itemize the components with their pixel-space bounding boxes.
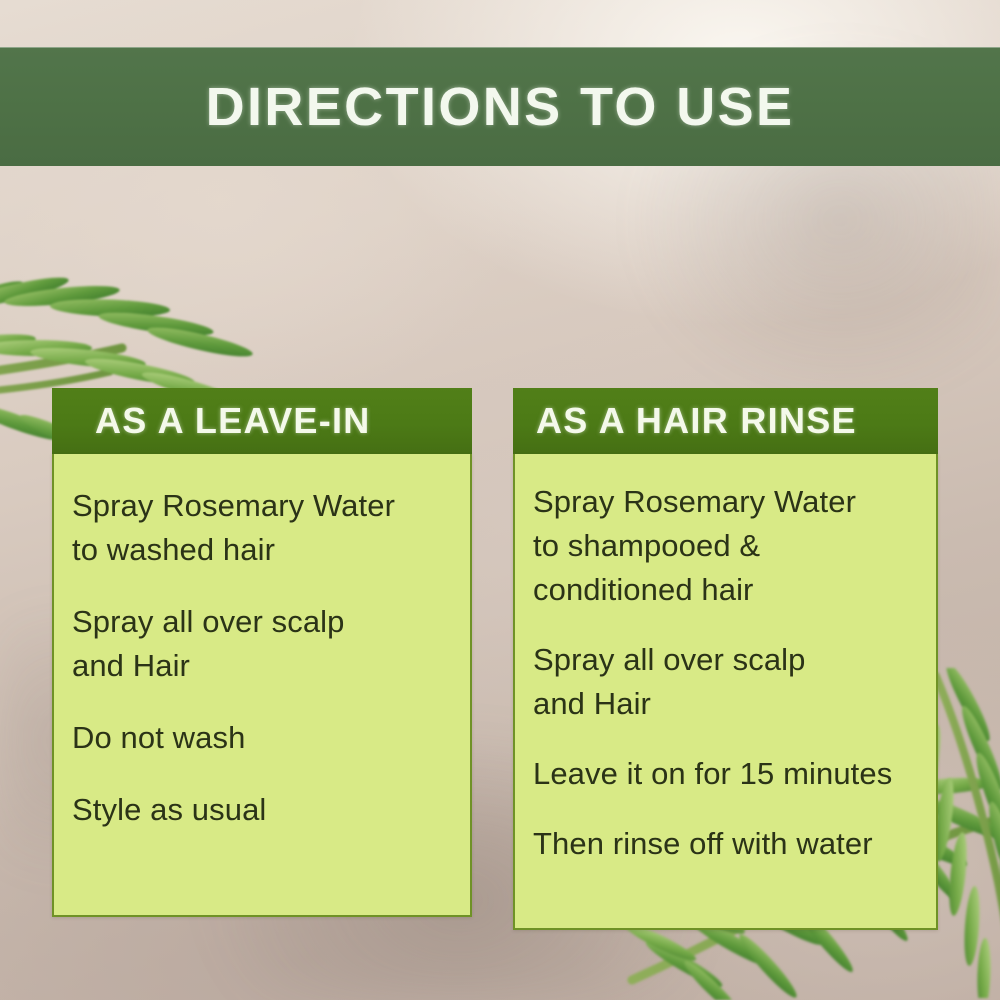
card-leave-in-title: AS A LEAVE-IN <box>95 403 371 439</box>
step-item: Spray Rosemary Water to shampooed & cond… <box>533 480 918 612</box>
card-leave-in: AS A LEAVE-IN Spray Rosemary Water to wa… <box>52 388 472 917</box>
directions-banner: DIRECTIONS TO USE <box>0 47 1000 166</box>
page-title: DIRECTIONS TO USE <box>206 80 795 134</box>
step-item: Spray Rosemary Water to washed hair <box>72 484 452 572</box>
step-item: Spray all over scalp and Hair <box>72 600 452 688</box>
step-item: Leave it on for 15 minutes <box>533 752 918 796</box>
card-leave-in-header: AS A LEAVE-IN <box>52 388 472 454</box>
card-hair-rinse-title: AS A HAIR RINSE <box>536 403 857 439</box>
step-item: Do not wash <box>72 716 452 760</box>
infographic-canvas: DIRECTIONS TO USE AS A LEAVE-IN Spray Ro… <box>0 0 1000 1000</box>
step-item: Style as usual <box>72 788 452 832</box>
card-hair-rinse-body: Spray Rosemary Water to shampooed & cond… <box>513 454 938 930</box>
step-item: Spray all over scalp and Hair <box>533 638 918 726</box>
step-item: Then rinse off with water <box>533 822 918 866</box>
card-leave-in-body: Spray Rosemary Water to washed hair Spra… <box>52 454 472 917</box>
card-hair-rinse: AS A HAIR RINSE Spray Rosemary Water to … <box>513 388 938 930</box>
card-hair-rinse-header: AS A HAIR RINSE <box>513 388 938 454</box>
